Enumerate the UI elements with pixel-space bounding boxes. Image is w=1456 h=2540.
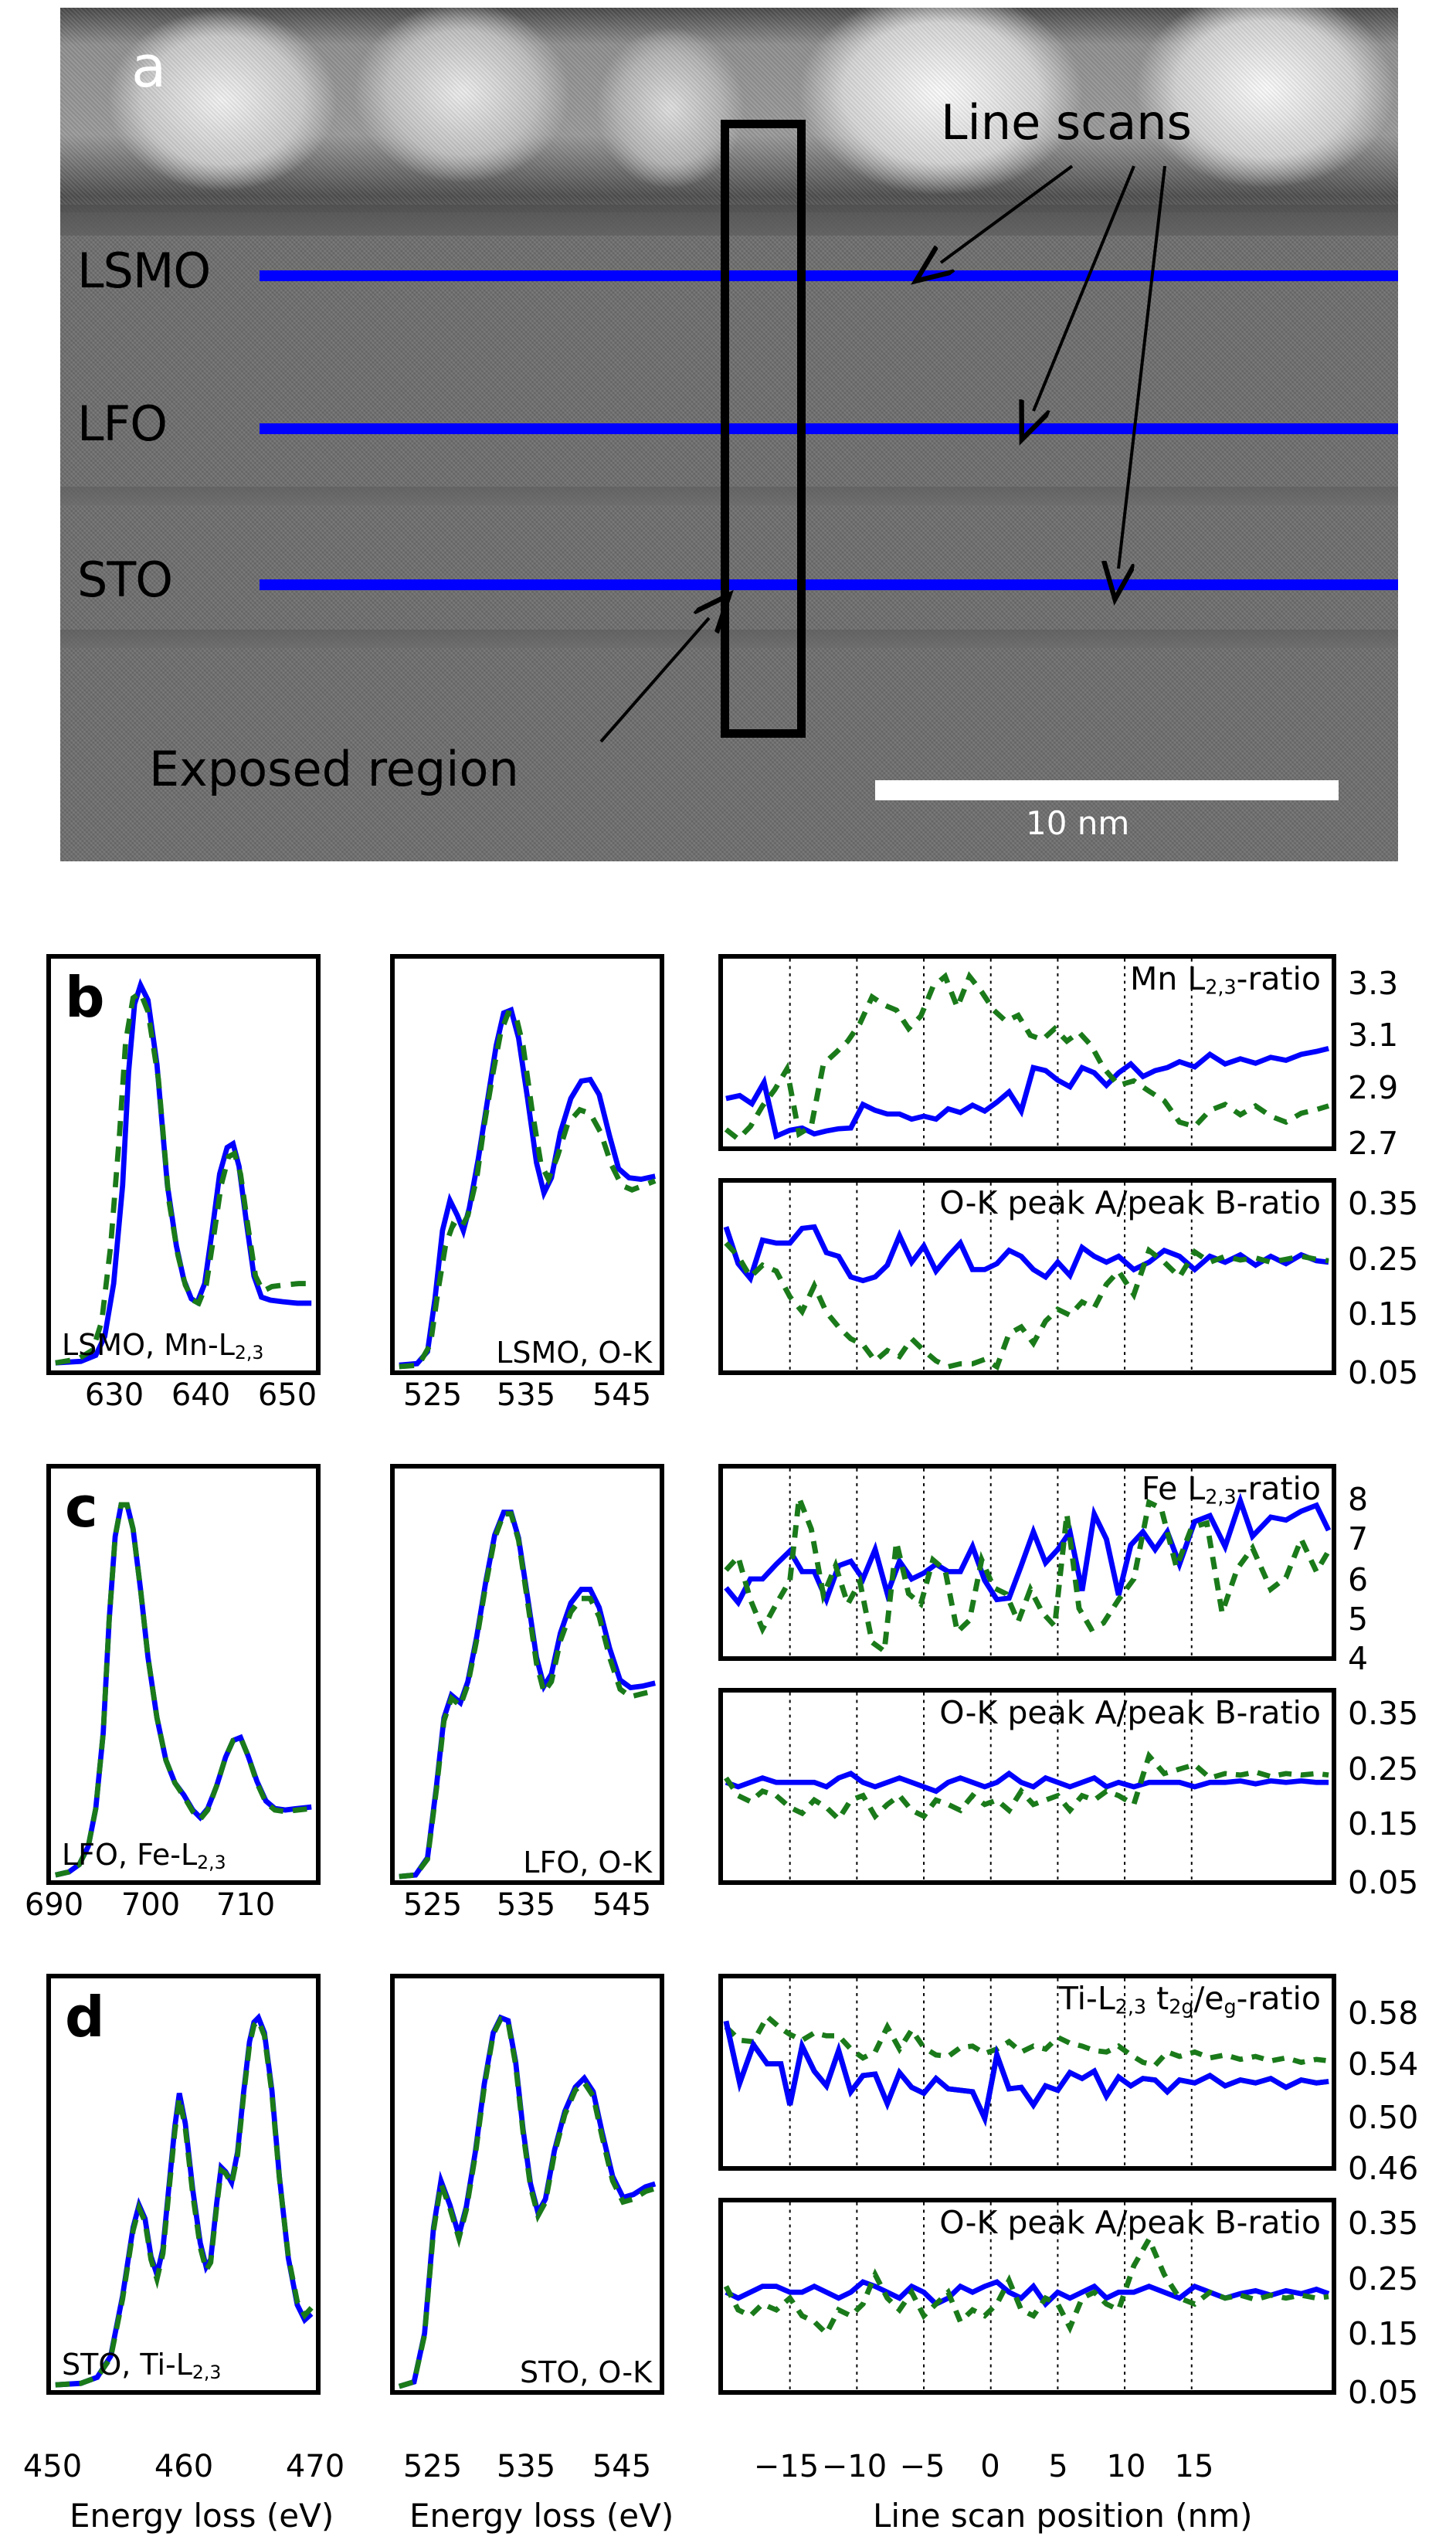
spectrum-caption-lfo-ok: LFO, O-K	[523, 1848, 652, 1877]
row-c: c LFO, Fe-L2,3 LFO, O-K	[0, 1456, 1456, 1927]
row-b: b LSMO, Mn-L2,3 LSMO, O-K	[0, 946, 1456, 1418]
linescan-title-ti: Ti-L2,3 t2g/eg-ratio	[1059, 1983, 1321, 2023]
linescan-title-ok-b: O-K peak A/peak B-ratio	[939, 1187, 1321, 1219]
yticks-mn-ratio: 3.3 3.1 2.9 2.7	[1348, 954, 1448, 1151]
title-subscript: 2,3	[1205, 976, 1236, 999]
linescan-title-fe: Fe L2,3-ratio	[1142, 1473, 1321, 1513]
title-subscript: 2,3	[1115, 1995, 1146, 2019]
stem-micrograph-panel: a LSMO LFO STO Line scans Exposed region…	[60, 8, 1398, 861]
layer-label-lsmo: LSMO	[77, 247, 210, 295]
title-tail: -ratio	[1237, 960, 1321, 997]
row-d: d STO, Ti-L2,3 STO, O-K	[0, 1966, 1456, 2437]
exposed-region-box	[721, 120, 806, 738]
linescan-ti-ratio: Ti-L2,3 t2g/eg-ratio	[718, 1974, 1336, 2171]
xticks-lsmo-ok: 525 535 545	[390, 1377, 664, 1418]
xlabel-linescan: Line scan position (nm)	[873, 2497, 1253, 2535]
yticks-ok-ratio-d: 0.35 0.25 0.15 0.05	[1348, 2198, 1448, 2395]
caption-text: STO, Ti-L	[62, 2348, 192, 2382]
scale-bar-label: 10 nm	[1026, 807, 1129, 840]
linescan-ok-ratio-c: O-K peak A/peak B-ratio	[718, 1688, 1336, 1885]
exposed-region-annotation: Exposed region	[149, 745, 519, 793]
xticks-lfo-fe: 690 700 710	[46, 1887, 321, 1927]
spectrum-lsmo-mn: b LSMO, Mn-L2,3	[46, 954, 321, 1375]
title-text: Mn L	[1130, 960, 1205, 997]
scan-line-lsmo	[260, 270, 1398, 281]
gridlines	[790, 1469, 1192, 1656]
bottom-axis-strip: 450 460 470 525 535 545 −15 −10 −5 0 5 1…	[0, 2449, 1456, 2540]
yticks-ti-ratio: 0.58 0.54 0.50 0.46	[1348, 1974, 1448, 2171]
spectrum-curves-sto-ok	[395, 1978, 660, 2390]
caption-subscript: 2,3	[197, 1852, 226, 1873]
xlabel-spec-col1: Energy loss (eV)	[70, 2497, 334, 2535]
caption-subscript: 2,3	[192, 2362, 221, 2383]
spectrum-caption-lfo-fe: LFO, Fe-L2,3	[62, 1840, 226, 1877]
linescan-ok-ratio-d: O-K peak A/peak B-ratio	[718, 2198, 1336, 2395]
scale-bar	[875, 780, 1339, 800]
linescan-ok-ratio-b: O-K peak A/peak B-ratio	[718, 1178, 1336, 1375]
spectrum-sto-ti: d STO, Ti-L2,3	[46, 1974, 321, 2395]
spectrum-caption-sto-ti: STO, Ti-L2,3	[62, 2350, 221, 2387]
figure-panels-bcd: b LSMO, Mn-L2,3 LSMO, O-K	[0, 946, 1456, 2540]
title-subscript: 2,3	[1205, 1486, 1236, 1509]
yticks-ok-ratio-b: 0.35 0.25 0.15 0.05	[1348, 1178, 1448, 1375]
xticks-lsmo-mn: 630 640 650	[46, 1377, 321, 1418]
spectrum-sto-ok: STO, O-K	[390, 1974, 664, 2395]
xticks-lfo-ok: 525 535 545	[390, 1887, 664, 1927]
xlabel-spec-col2: Energy loss (eV)	[409, 2497, 674, 2535]
title-tail: t2g/eg-ratio	[1146, 1980, 1321, 2017]
spectrum-lfo-fe: c LFO, Fe-L2,3	[46, 1464, 321, 1885]
spectrum-caption-lsmo-ok: LSMO, O-K	[496, 1338, 652, 1367]
linescan-fe-ratio: Fe L2,3-ratio	[718, 1464, 1336, 1661]
spectrum-caption-sto-ok: STO, O-K	[520, 2358, 652, 2387]
layer-label-lfo: LFO	[77, 400, 167, 448]
spectrum-lsmo-ok: LSMO, O-K	[390, 954, 664, 1375]
scan-line-lfo	[260, 423, 1398, 434]
linescan-title-ok-c: O-K peak A/peak B-ratio	[939, 1697, 1321, 1729]
title-text: Ti-L	[1059, 1980, 1115, 2017]
panel-letter-d: d	[65, 1989, 105, 2045]
scan-line-sto	[260, 579, 1398, 590]
caption-subscript: 2,3	[235, 1342, 263, 1363]
caption-text: LFO, Fe-L	[62, 1838, 197, 1872]
linescan-title-mn: Mn L2,3-ratio	[1130, 963, 1321, 1003]
spectrum-curves-lsmo-ok	[395, 959, 660, 1370]
spectrum-curves-lfo-ok	[395, 1469, 660, 1880]
spectrum-caption-lsmo-mn: LSMO, Mn-L2,3	[62, 1330, 263, 1367]
linescan-mn-ratio: Mn L2,3-ratio	[718, 954, 1336, 1151]
panel-letter-b: b	[65, 969, 105, 1025]
panel-letter-c: c	[65, 1479, 98, 1535]
linescan-title-ok-d: O-K peak A/peak B-ratio	[939, 2207, 1321, 2239]
yticks-ok-ratio-c: 0.35 0.25 0.15 0.05	[1348, 1688, 1448, 1885]
layer-label-sto: STO	[77, 556, 172, 604]
yticks-fe-ratio: 8 7 6 5 4	[1348, 1464, 1448, 1661]
spectrum-lfo-ok: LFO, O-K	[390, 1464, 664, 1885]
title-tail: -ratio	[1237, 1470, 1321, 1507]
line-scans-annotation: Line scans	[941, 99, 1192, 147]
title-text: Fe L	[1142, 1470, 1205, 1507]
caption-text: LSMO, Mn-L	[62, 1328, 235, 1362]
panel-letter-a: a	[131, 39, 166, 96]
